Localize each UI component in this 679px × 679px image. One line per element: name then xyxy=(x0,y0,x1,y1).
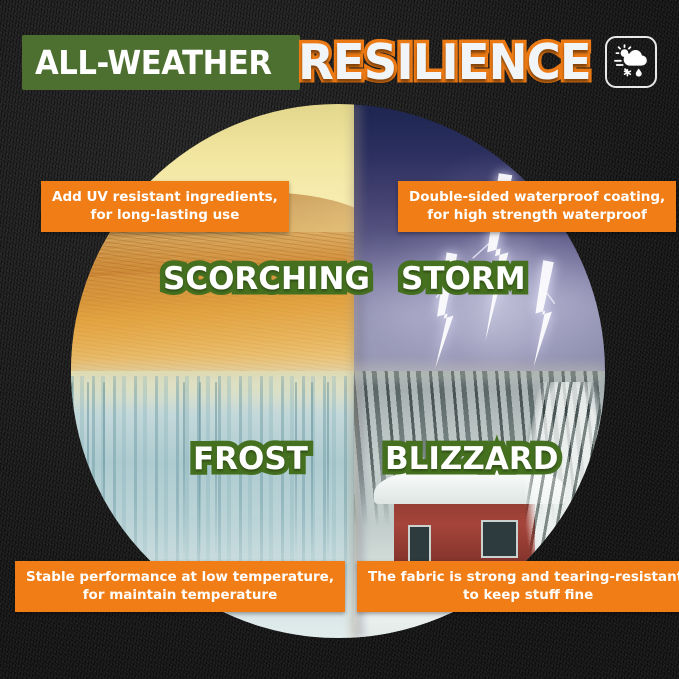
callout-lowtemp-line1: Stable performance at low temperature, xyxy=(26,568,334,586)
title-primary-text: ALL-WEATHER xyxy=(35,43,272,82)
callout-waterproof-line1: Double-sided waterproof coating, xyxy=(409,188,665,206)
label-storm: STORM xyxy=(401,261,526,297)
callout-uv-resistance: Add UV resistant ingredients, for long-l… xyxy=(41,181,289,232)
header-banner: ALL-WEATHER RESILIENCE xyxy=(22,33,657,91)
cabin-window-right xyxy=(481,520,518,558)
quadrant-scorching xyxy=(71,104,354,371)
weather-icon-badge xyxy=(605,36,657,88)
sand-dunes xyxy=(71,232,354,371)
callout-tear-line2: to keep stuff fine xyxy=(368,586,679,604)
callout-tear-resistance: The fabric is strong and tearing-resista… xyxy=(357,561,679,612)
callout-lowtemp-line2: for maintain temperature xyxy=(26,586,334,604)
raindrop-shape xyxy=(636,69,642,77)
quadrant-storm xyxy=(354,104,605,371)
sun-cloud-rain-snow-icon xyxy=(612,43,650,81)
callout-waterproof-line2: for high strength waterproof xyxy=(409,206,665,224)
title-primary-badge: ALL-WEATHER xyxy=(22,35,300,90)
callout-low-temperature: Stable performance at low temperature, f… xyxy=(15,561,345,612)
label-scorching: SCORCHING xyxy=(163,261,370,297)
lightning-bolts xyxy=(354,104,605,371)
title-accent-text: RESILIENCE xyxy=(298,35,591,90)
callout-uv-line1: Add UV resistant ingredients, xyxy=(52,188,278,206)
callout-tear-line1: The fabric is strong and tearing-resista… xyxy=(368,568,679,586)
callout-uv-line2: for long-lasting use xyxy=(52,206,278,224)
label-blizzard: BLIZZARD xyxy=(385,441,558,477)
callout-waterproof: Double-sided waterproof coating, for hig… xyxy=(398,181,676,232)
label-frost: FROST xyxy=(193,441,308,477)
